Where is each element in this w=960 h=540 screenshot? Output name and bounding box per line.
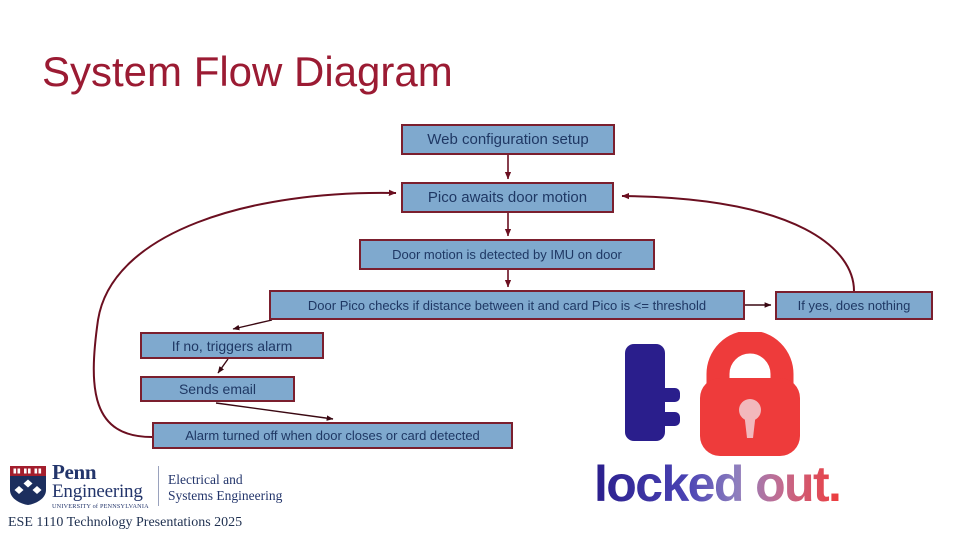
flow-node-sends-email[interactable]: Sends email <box>140 376 295 402</box>
flow-node-pico-awaits-door-motion[interactable]: Pico awaits door motion <box>401 182 614 213</box>
penn-logo-divider <box>158 466 159 506</box>
flow-node-label: If yes, does nothing <box>798 299 911 312</box>
edge-no-to-email <box>218 359 228 373</box>
flow-node-alarm-turned-off[interactable]: Alarm turned off when door closes or car… <box>152 422 513 449</box>
penn-department-name: Electrical and Systems Engineering <box>168 472 282 504</box>
flow-node-label: Alarm turned off when door closes or car… <box>185 429 480 442</box>
locked-out-wordmark: locked out. <box>592 456 878 514</box>
flow-node-distance-check[interactable]: Door Pico checks if distance between it … <box>269 290 745 320</box>
locked-out-logo: locked out. <box>592 332 878 522</box>
flow-node-door-motion-detected[interactable]: Door motion is detected by IMU on door <box>359 239 655 270</box>
penn-engineering-logo: Penn Engineering UNIVERSITY of PENNSYLVA… <box>8 464 298 510</box>
penn-department-line2: Systems Engineering <box>168 488 282 504</box>
key-and-padlock-icon <box>592 332 878 462</box>
flow-node-web-configuration-setup[interactable]: Web configuration setup <box>401 124 615 155</box>
edge-email-to-alarmoff <box>216 403 333 419</box>
flow-node-label: If no, triggers alarm <box>172 339 293 353</box>
slide-canvas: System Flow Diagram <box>0 0 960 540</box>
penn-wordmark: Penn Engineering UNIVERSITY of PENNSYLVA… <box>52 462 152 511</box>
flow-node-label: Web configuration setup <box>427 132 589 147</box>
penn-department-line1: Electrical and <box>168 472 282 488</box>
edge-yes-to-awaits <box>622 196 854 291</box>
flow-node-label: Door motion is detected by IMU on door <box>392 248 622 261</box>
penn-wordmark-line3: UNIVERSITY of PENNSYLVANIA <box>52 503 152 511</box>
flow-node-label: Sends email <box>179 382 256 396</box>
key-icon <box>625 344 680 441</box>
penn-shield-icon <box>8 464 48 507</box>
flow-node-label: Door Pico checks if distance between it … <box>308 299 706 312</box>
locked-out-text: locked out. <box>594 456 840 512</box>
flow-node-label: Pico awaits door motion <box>428 190 587 205</box>
flow-node-if-yes-does-nothing[interactable]: If yes, does nothing <box>775 291 933 320</box>
penn-wordmark-line1: Penn <box>52 462 152 482</box>
slide-footer: ESE 1110 Technology Presentations 2025 <box>8 515 242 531</box>
edge-check-to-no <box>233 320 272 329</box>
padlock-icon <box>700 342 800 456</box>
penn-wordmark-line2: Engineering <box>52 482 152 502</box>
flow-node-if-no-triggers-alarm[interactable]: If no, triggers alarm <box>140 332 324 359</box>
